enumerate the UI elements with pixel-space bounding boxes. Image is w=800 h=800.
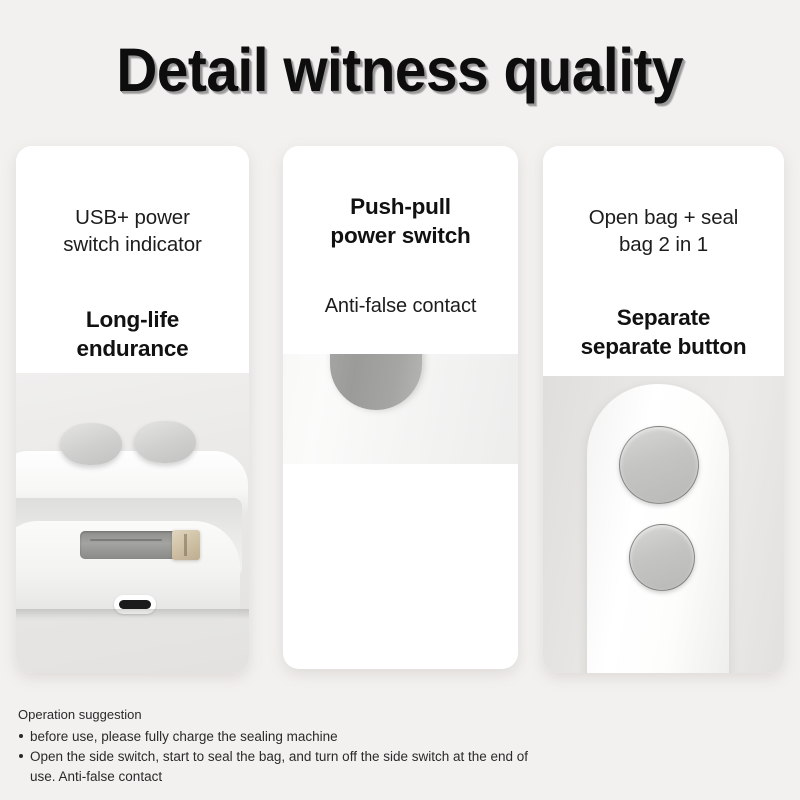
slider-groove-line	[90, 539, 162, 541]
card-strong-line-1: Long-life	[28, 305, 237, 334]
card-strong-line-2: endurance	[28, 334, 237, 363]
device-gold-contact-tab	[172, 530, 200, 560]
feature-cards-row: USB+ power switch indicator Long-life en…	[0, 146, 800, 676]
card-lead-line-1: USB+ power	[28, 204, 237, 231]
device-knobs-usb-port-photo	[16, 373, 249, 673]
card-text-panel: Push-pull power switch Anti-false contac…	[283, 146, 518, 354]
page-title-wrapper: Detail witness quality	[0, 38, 800, 102]
device-knob-right	[134, 421, 196, 463]
feature-card-separate-button: Open bag + seal bag 2 in 1 Separate sepa…	[543, 146, 784, 673]
footer-list: before use, please fully charge the seal…	[18, 727, 538, 787]
footer-list-item: Open the side switch, start to seal the …	[18, 747, 538, 786]
round-button-bottom[interactable]	[629, 524, 695, 591]
footer-list-item: before use, please fully charge the seal…	[18, 727, 538, 747]
card-text-panel: Open bag + seal bag 2 in 1 Separate sepa…	[543, 146, 784, 376]
feature-card-usb-power: USB+ power switch indicator Long-life en…	[16, 146, 249, 673]
device-slider-switch	[80, 531, 180, 559]
device-base-shadow	[16, 609, 249, 619]
card-lead-line-1: Open bag + seal	[555, 204, 772, 231]
page-title: Detail witness quality	[117, 38, 684, 102]
card-text-panel: USB+ power switch indicator Long-life en…	[16, 146, 249, 373]
device-knob-left	[60, 423, 122, 465]
operation-suggestion-block: Operation suggestion before use, please …	[18, 705, 538, 787]
card-strong-line-2: separate button	[555, 332, 772, 361]
card-sub-text: Anti-false contact	[295, 293, 506, 319]
card-strong-line-2: power switch	[295, 221, 506, 250]
card-lead-line-2: switch indicator	[28, 231, 237, 258]
card-strong-line-1: Push-pull	[295, 192, 506, 221]
card-lead-line-2: bag 2 in 1	[555, 231, 772, 258]
card-strong-line-1: Separate	[555, 303, 772, 332]
feature-card-push-pull: ⏻ Push-pull power switch Anti-false cont…	[283, 146, 518, 669]
two-round-buttons-photo	[543, 376, 784, 673]
round-button-top[interactable]	[619, 426, 699, 504]
footer-heading: Operation suggestion	[18, 705, 538, 725]
